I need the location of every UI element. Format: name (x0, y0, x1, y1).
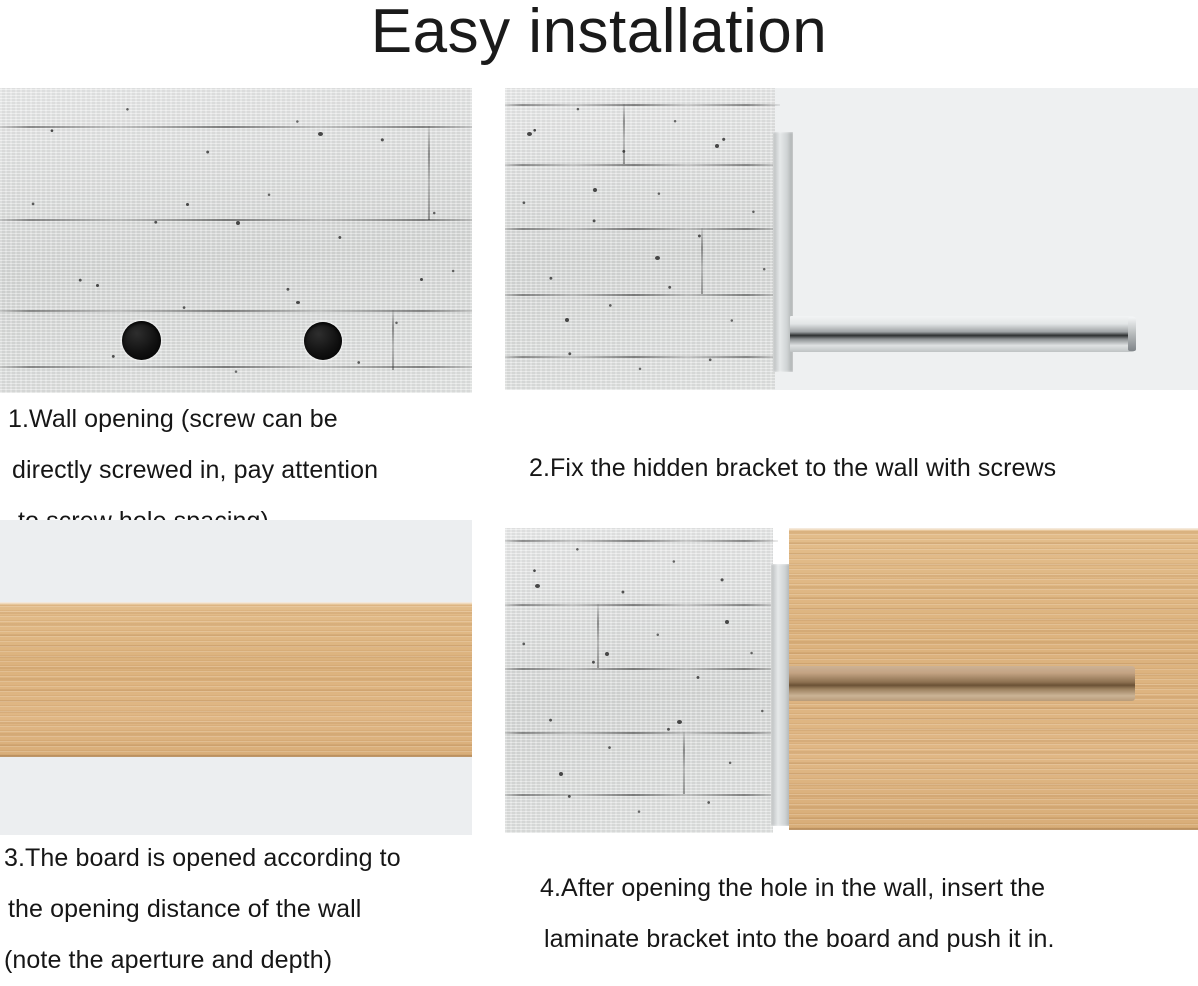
board-top-edge (0, 602, 472, 605)
mortar-joint-horizontal (505, 668, 778, 670)
wall-debris (593, 188, 597, 192)
caption-line: the opening distance of the wall (4, 884, 474, 935)
mortar-joint-horizontal (0, 366, 472, 368)
wall-debris (236, 221, 240, 225)
caption-line: directly screwed in, pay attention (8, 445, 478, 496)
wall-debris (420, 278, 423, 281)
mortar-joint-vertical (623, 104, 625, 164)
caption-line: laminate bracket into the board and push… (540, 914, 1198, 965)
wall-debris (318, 132, 323, 136)
mortar-joint-vertical (701, 228, 703, 294)
mortar-joint-horizontal (505, 794, 778, 796)
step-3-image (0, 520, 472, 835)
mortar-joint-vertical (392, 310, 394, 370)
wall-debris (535, 584, 540, 588)
caption-line: 4.After opening the hole in the wall, in… (540, 863, 1198, 914)
mortar-joint-vertical (683, 732, 685, 794)
bracket-rod-inserted (789, 666, 1135, 701)
wall-debris (677, 720, 682, 724)
mortar-joint-horizontal (505, 356, 780, 358)
wall-debris (565, 318, 569, 322)
step-3-caption: 3.The board is opened according to the o… (4, 833, 474, 986)
mortar-joint-horizontal (505, 164, 780, 166)
wall-debris (96, 284, 99, 287)
bracket-wall-plate (771, 564, 791, 826)
mortar-joint-horizontal (505, 294, 780, 296)
page-title: Easy installation (0, 0, 1198, 66)
step-2-image (505, 88, 1198, 390)
step-1-image (0, 88, 472, 393)
mortar-joint-horizontal (505, 604, 778, 606)
wall-debris (296, 301, 300, 304)
wall-debris (186, 203, 189, 206)
wall-debris (605, 652, 609, 656)
caption-line: (note the aperture and depth) (4, 935, 474, 986)
caption-line: 3.The board is opened according to (4, 833, 474, 884)
mortar-joint-horizontal (0, 126, 472, 128)
wall-texture (505, 528, 773, 833)
mortar-joint-horizontal (505, 104, 780, 106)
wall-debris (655, 256, 660, 260)
step-4-caption: 4.After opening the hole in the wall, in… (540, 863, 1198, 965)
board-top-edge (789, 528, 1198, 531)
mortar-joint-vertical (428, 126, 430, 220)
caption-line: 2.Fix the hidden bracket to the wall wit… (529, 443, 1198, 494)
wall-debris (527, 132, 532, 136)
wall-texture (0, 88, 472, 393)
mortar-joint-horizontal (505, 540, 778, 542)
wall-debris (725, 620, 729, 624)
caption-line: 1.Wall opening (screw can be (8, 394, 478, 445)
wall-debris (559, 772, 563, 776)
mortar-joint-horizontal (505, 732, 778, 734)
step-2-caption: 2.Fix the hidden bracket to the wall wit… (529, 443, 1198, 494)
mortar-joint-horizontal (505, 228, 780, 230)
bracket-rod (790, 316, 1135, 352)
board-bottom-edge (0, 754, 472, 757)
wall-hole-left (122, 321, 161, 360)
board-bottom-edge (789, 827, 1198, 830)
step-4-image (505, 528, 1198, 833)
bracket-rod-tip (1128, 317, 1136, 351)
mortar-joint-vertical (597, 604, 599, 668)
wall-debris (715, 144, 719, 148)
wood-board (0, 602, 472, 757)
wall-hole-right (304, 322, 342, 360)
wall-texture (505, 88, 775, 390)
mortar-joint-horizontal (0, 310, 472, 312)
